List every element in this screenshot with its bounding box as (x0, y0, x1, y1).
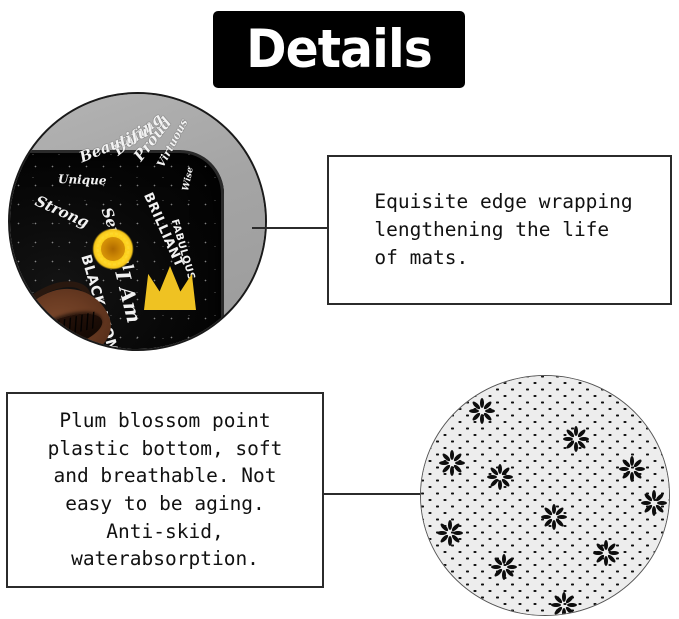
anti-skid-dot-field (420, 375, 670, 616)
connector-line-top (252, 227, 329, 229)
plum-blossom-icon (435, 518, 465, 548)
details-banner-label: Details (246, 23, 432, 76)
plum-blossom-icon (591, 538, 621, 568)
plum-blossom-icon (639, 488, 669, 518)
mat-backing-photo: Round mat backing with plum blossom poin… (420, 375, 670, 616)
mat-front-photo: VirtuousWiseProudDaringBeautifulUniqueSt… (8, 92, 267, 351)
plum-blossom-icon (437, 448, 467, 478)
edge-wrapping-callout: Equisite edge wrapping lengthening the l… (327, 155, 672, 305)
plum-bottom-callout: Plum blossom point plastic bottom, soft … (6, 392, 324, 588)
plum-blossom-icon (485, 462, 515, 492)
plum-bottom-text: Plum blossom point plastic bottom, soft … (40, 407, 291, 573)
details-banner: Details (213, 11, 465, 88)
connector-line-bottom (322, 493, 432, 495)
plum-blossom-icon (539, 502, 569, 532)
plum-blossom-icon (549, 590, 579, 616)
plum-blossom-icon (467, 396, 497, 426)
plum-blossom-icon (617, 454, 647, 484)
edge-wrapping-text: Equisite edge wrapping lengthening the l… (360, 188, 638, 271)
plum-blossom-icon (561, 424, 591, 454)
sunflower-graphic (92, 228, 134, 270)
mat-word: Unique (58, 172, 107, 188)
plum-blossom-icon (489, 552, 519, 582)
